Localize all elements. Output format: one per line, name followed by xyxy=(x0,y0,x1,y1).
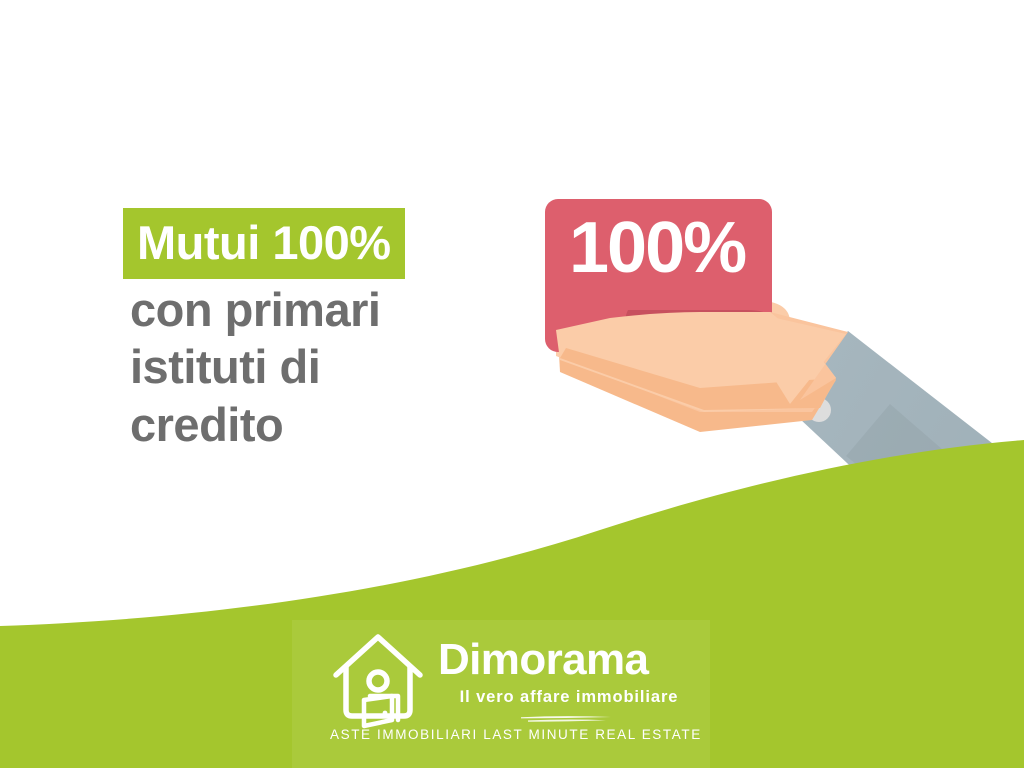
divider-stroke-lower xyxy=(528,719,606,721)
brand-divider-icon xyxy=(518,714,614,724)
house-icon xyxy=(330,630,426,730)
headline-block: Mutui 100% con primari istituti di credi… xyxy=(123,208,553,453)
headline-line-3: credito xyxy=(123,396,553,453)
door-leaf xyxy=(364,696,392,726)
brand-strapline: ASTE IMMOBILIARI LAST MINUTE REAL ESTATE xyxy=(330,728,694,742)
door-handle-icon xyxy=(383,711,388,716)
brand-name: Dimorama xyxy=(438,638,694,682)
promo-banner: 100% Mutui 100% con primari istituti di … xyxy=(0,0,1024,768)
brand-wordmark: Dimorama Il vero affare immobiliare xyxy=(426,624,694,724)
house-window-icon xyxy=(369,672,387,690)
brand-tagline: Il vero affare immobiliare xyxy=(438,689,694,706)
headline-highlight: Mutui 100% xyxy=(123,208,405,279)
headline-line-2: istituti di xyxy=(123,338,553,395)
brand-logo: Dimorama Il vero affare immobiliare ASTE… xyxy=(330,624,694,748)
divider-stroke-upper xyxy=(521,716,611,718)
headline-line-1: con primari xyxy=(123,281,553,338)
